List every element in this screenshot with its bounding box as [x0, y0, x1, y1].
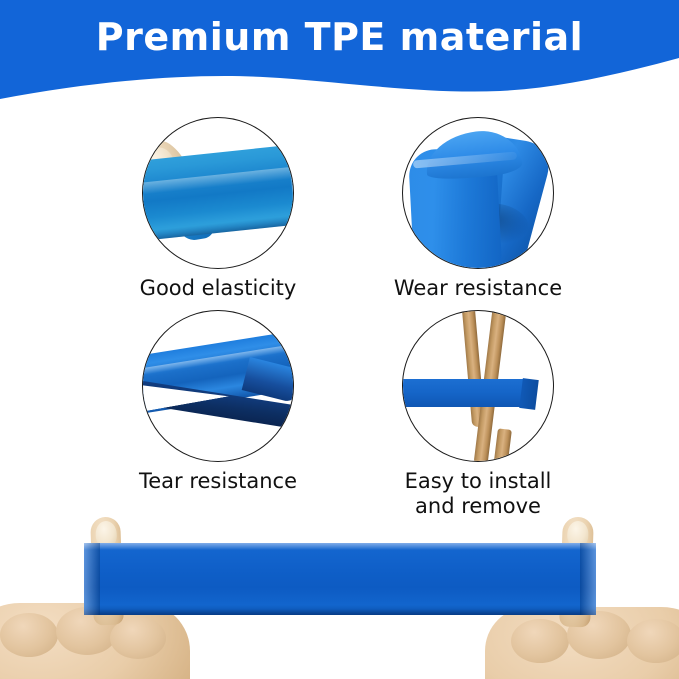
band-right-edge	[580, 543, 596, 615]
band-edge-highlight	[287, 143, 294, 225]
band-gloss-top	[84, 543, 596, 550]
band-left-edge	[84, 543, 100, 615]
feature-label-wear-resistance: Wear resistance	[393, 276, 563, 301]
feature-good-elasticity: Good elasticity	[133, 117, 303, 301]
band-wrap-end	[519, 378, 539, 410]
feature-wear-resistance: Wear resistance	[393, 117, 563, 301]
product-infographic: Premium TPE material Good elasticity Wea…	[0, 0, 679, 679]
knuckle	[0, 613, 58, 657]
band-gloss	[142, 165, 294, 194]
feature-easy-to-install: Easy to install and remove	[393, 310, 563, 519]
resistance-band	[84, 543, 596, 615]
hero-hands-holding-band	[0, 495, 679, 679]
feature-tear-resistance: Tear resistance	[133, 310, 303, 494]
knuckle	[511, 619, 569, 663]
band-shape	[402, 379, 525, 407]
feature-label-tear-resistance: Tear resistance	[133, 469, 303, 494]
band-gloss-bottom	[84, 609, 596, 615]
feature-label-good-elasticity: Good elasticity	[133, 276, 303, 301]
feature-image-good-elasticity	[142, 117, 294, 269]
knuckle	[627, 619, 679, 663]
page-title: Premium TPE material	[0, 14, 679, 60]
band-shape	[142, 143, 294, 241]
feature-label-line-1: Easy to install	[378, 469, 578, 494]
header-banner: Premium TPE material	[0, 0, 679, 110]
chair-leg-right-foot	[492, 428, 512, 462]
feature-image-tear-resistance	[142, 310, 294, 462]
feature-image-wear-resistance	[402, 117, 554, 269]
feature-image-easy-to-install	[402, 310, 554, 462]
